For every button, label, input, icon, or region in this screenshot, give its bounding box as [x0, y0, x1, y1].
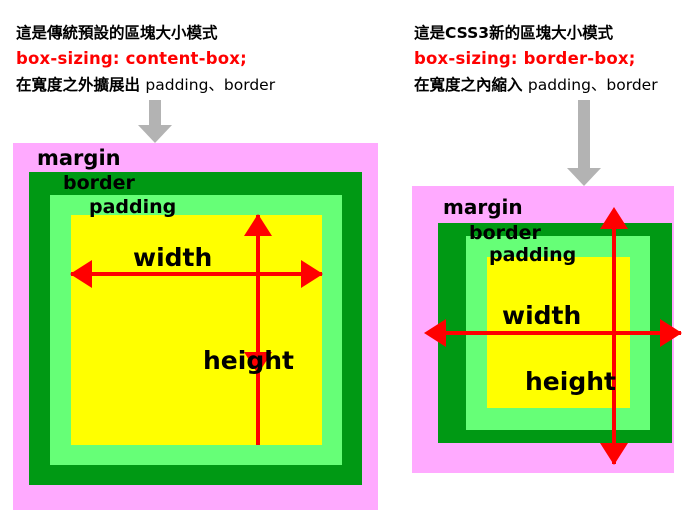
caption-border-box: 這是CSS3新的區塊大小模式 box-sizing: border-box; 在… [414, 20, 658, 98]
caption-content-box: 這是傳統預設的區塊大小模式 box-sizing: content-box; 在… [16, 20, 275, 98]
width-arrow-head-left [424, 319, 446, 347]
box-model-content-box: margin border padding width height [13, 143, 378, 510]
height-arrow-head-top [600, 207, 628, 229]
caption-line-2-code: box-sizing: content-box; [16, 46, 275, 72]
height-label: height [203, 348, 294, 373]
height-label: height [525, 369, 616, 394]
caption-line-3-thin: padding、border [145, 76, 275, 94]
arrow-head [138, 125, 172, 143]
caption-line-3: 在寬度之內縮入 padding、border [414, 72, 658, 98]
border-label: border [63, 174, 135, 193]
padding-label: padding [489, 246, 576, 265]
width-arrow-line [71, 272, 322, 276]
width-arrow-head-right [301, 260, 323, 288]
caption-line-3-bold: 在寬度之內縮入 [414, 76, 523, 94]
border-label: border [469, 224, 541, 243]
margin-label: margin [37, 148, 121, 169]
width-arrow-head-right [660, 319, 682, 347]
arrow-shaft [578, 100, 590, 169]
caption-line-3-thin: padding、border [528, 76, 658, 94]
grey-down-arrow-right [567, 100, 601, 186]
caption-line-3: 在寬度之外擴展出 padding、border [16, 72, 275, 98]
width-arrow-line [429, 331, 681, 335]
caption-line-1: 這是傳統預設的區塊大小模式 [16, 20, 275, 46]
caption-line-1: 這是CSS3新的區塊大小模式 [414, 20, 658, 46]
width-label: width [133, 245, 212, 270]
arrow-shaft [149, 100, 161, 126]
caption-line-3-bold: 在寬度之外擴展出 [16, 76, 140, 94]
width-label: width [502, 303, 581, 328]
height-arrow-line [256, 215, 260, 445]
margin-label: margin [443, 197, 523, 217]
arrow-head [567, 168, 601, 186]
box-model-border-box: margin border padding width height [412, 186, 674, 473]
grey-down-arrow-left [138, 100, 172, 143]
height-arrow-head-top [244, 214, 272, 236]
caption-line-2-code: box-sizing: border-box; [414, 46, 658, 72]
diagram-canvas: 這是傳統預設的區塊大小模式 box-sizing: content-box; 在… [0, 0, 700, 514]
width-arrow-head-left [70, 260, 92, 288]
padding-label: padding [89, 198, 176, 217]
height-arrow-line [612, 212, 616, 464]
height-arrow-head-bottom [600, 443, 628, 465]
